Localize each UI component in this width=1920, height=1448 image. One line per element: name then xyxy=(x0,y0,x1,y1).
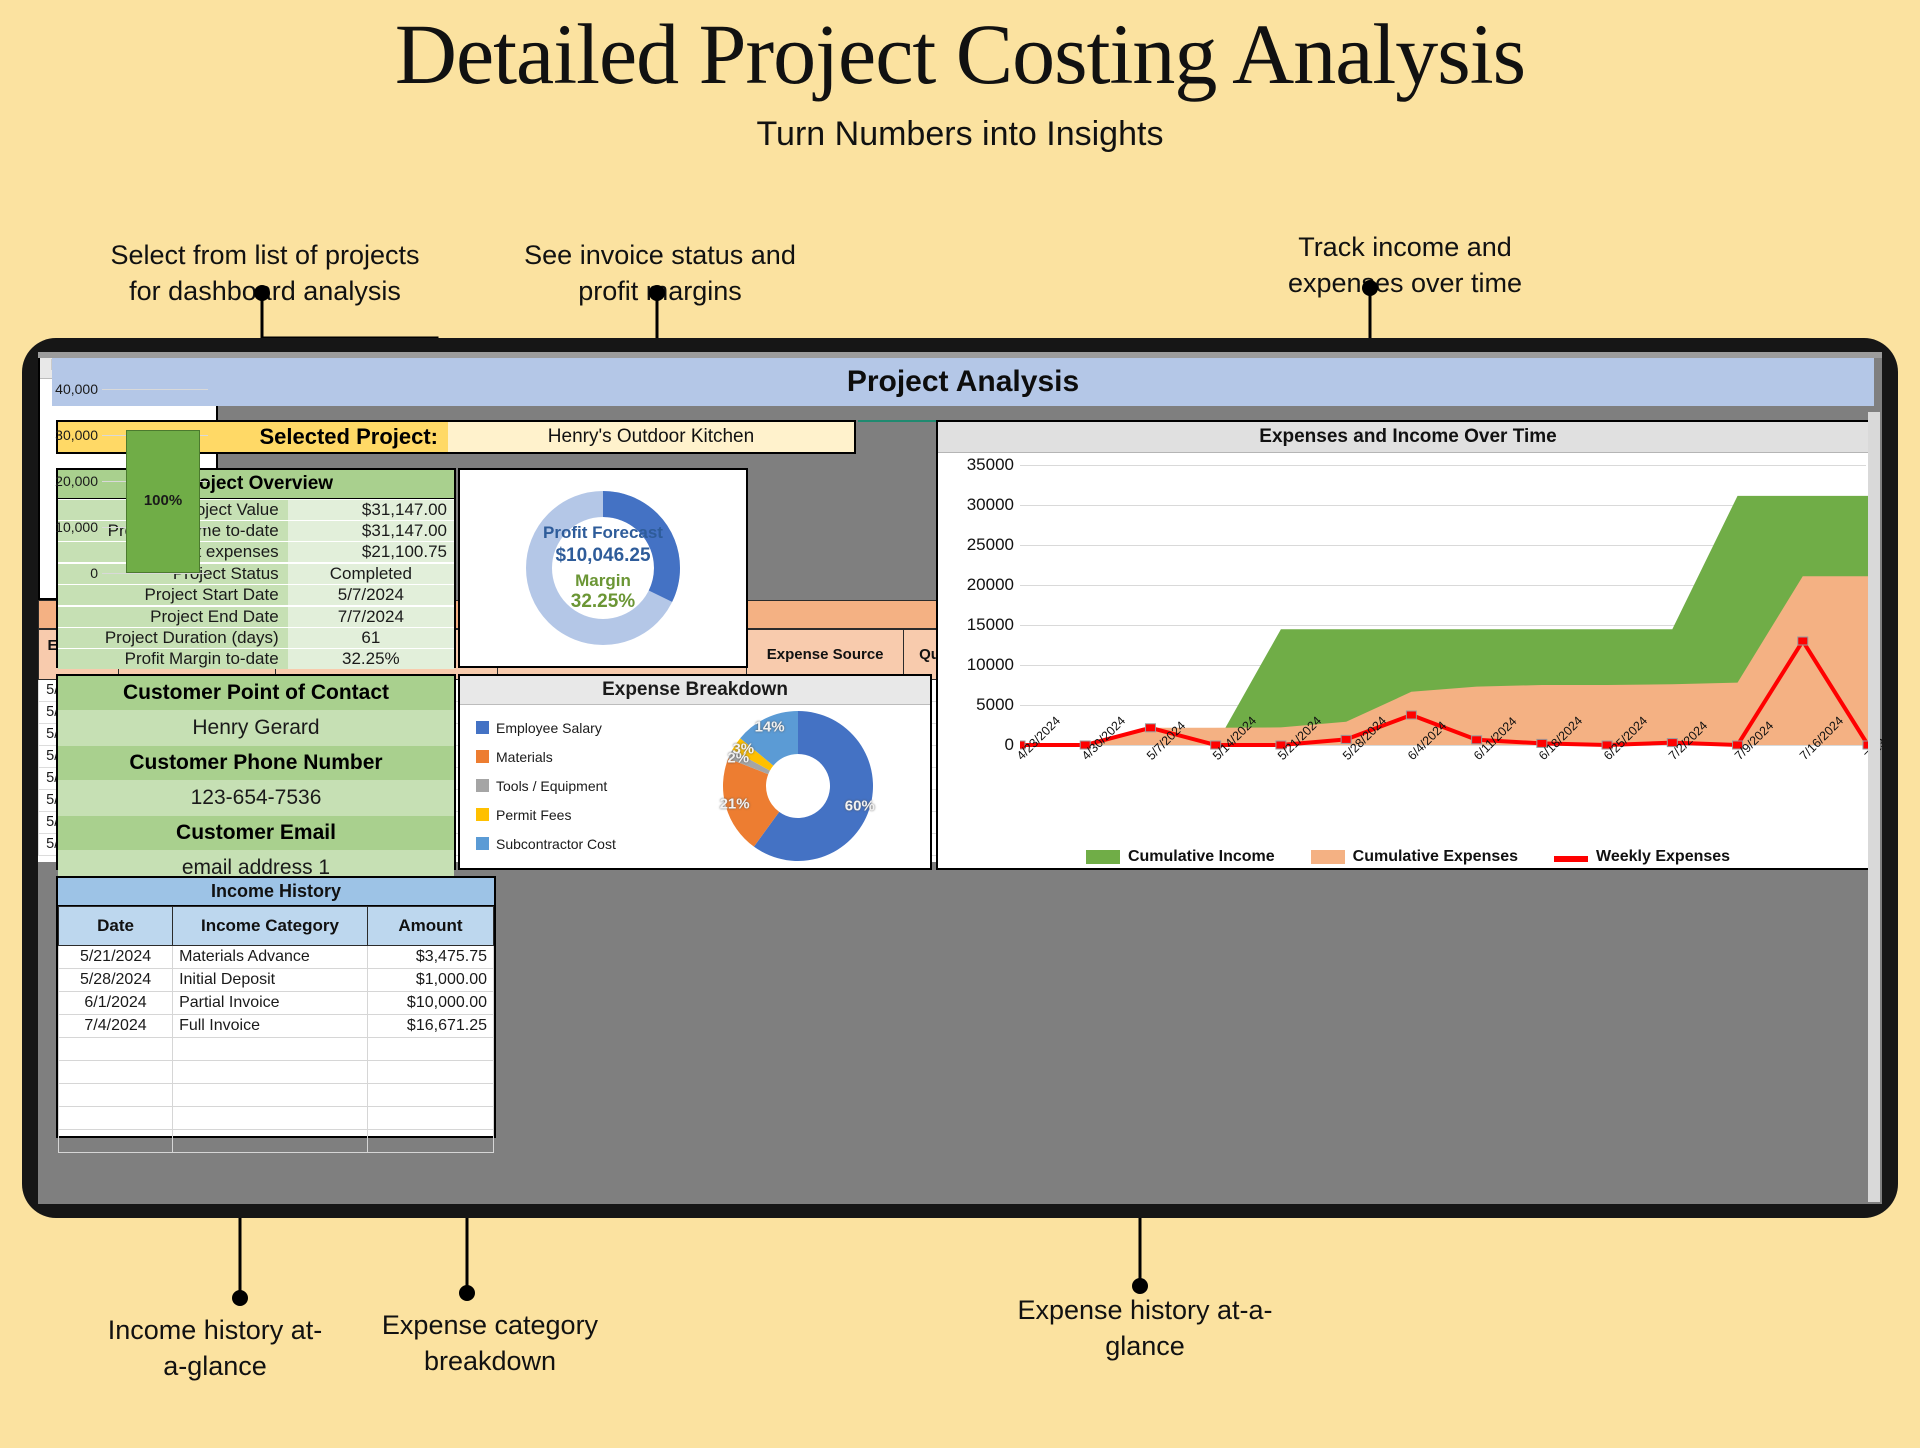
overview-key: Profit Margin to-date xyxy=(58,649,288,669)
income-history-cell: 7/4/2024 xyxy=(59,1015,173,1038)
table-row[interactable] xyxy=(59,1130,494,1153)
expense-donut-svg xyxy=(723,711,873,861)
overview-value: $31,147.00 xyxy=(288,500,454,520)
overview-row: Project Duration (days)61 xyxy=(58,627,454,648)
timechart-legend-item: Cumulative Income xyxy=(1086,848,1275,866)
income-history-cell: Initial Deposit xyxy=(173,969,368,992)
timechart-ytick: 20000 xyxy=(942,575,1014,595)
timechart-ytick: 0 xyxy=(942,735,1014,755)
income-history-cell xyxy=(173,1084,368,1107)
income-history-cell xyxy=(367,1061,493,1084)
invoices-ytick: 10,000 xyxy=(46,519,98,535)
legend-swatch-icon xyxy=(476,808,489,821)
invoices-ytick: 30,000 xyxy=(46,427,98,443)
table-row[interactable]: 5/21/2024Materials Advance$3,475.75 xyxy=(59,946,494,969)
invoices-gridline xyxy=(102,573,208,574)
profit-donut: Profit Forecast $10,046.25 Margin 32.25% xyxy=(519,484,687,652)
overview-value: 5/7/2024 xyxy=(288,585,454,605)
expense-breakdown-chart: Expense Breakdown Employee SalaryMateria… xyxy=(458,674,932,870)
expense-donut: 60%21%2%3%14% xyxy=(723,711,873,861)
expenses-income-chart: Expenses and Income Over Time 3500030000… xyxy=(936,420,1880,870)
expense-legend-label: Materials xyxy=(496,749,553,765)
income-history-cell: 5/28/2024 xyxy=(59,969,173,992)
income-history-cell: $16,671.25 xyxy=(367,1015,493,1038)
expense-breakdown-title: Expense Breakdown xyxy=(460,676,930,705)
expense-breakdown-body: Employee SalaryMaterialsTools / Equipmen… xyxy=(460,705,930,867)
invoices-ytick: 40,000 xyxy=(46,381,98,397)
legend-swatch-icon xyxy=(1086,850,1120,864)
income-history-cell: $10,000.00 xyxy=(367,992,493,1015)
overview-row: Profit Margin to-date32.25% xyxy=(58,649,454,670)
expense-slice-label: 3% xyxy=(732,741,754,758)
vertical-scrollbar[interactable] xyxy=(1868,412,1880,1202)
overview-value: 32.25% xyxy=(288,649,454,669)
expenses-income-title: Expenses and Income Over Time xyxy=(938,422,1878,453)
invoices-ytick: 20,000 xyxy=(46,473,98,489)
expense-breakdown-plot: 60%21%2%3%14% xyxy=(665,705,930,867)
income-history-cell xyxy=(59,1084,173,1107)
timechart-ytick: 5000 xyxy=(942,695,1014,715)
overview-row: Project End Date7/7/2024 xyxy=(58,606,454,627)
expenses-income-legend: Cumulative IncomeCumulative ExpensesWeek… xyxy=(938,848,1878,866)
app-title: Project Analysis xyxy=(847,365,1079,399)
income-history-cell xyxy=(173,1130,368,1153)
table-row[interactable] xyxy=(59,1084,494,1107)
income-history-title: Income History xyxy=(58,878,494,906)
dashboard-screen: Project Analysis Selected Project: Henry… xyxy=(38,352,1882,1204)
timechart-ytick: 15000 xyxy=(942,615,1014,635)
income-history-cell: 6/1/2024 xyxy=(59,992,173,1015)
income-history-column-header: Income Category xyxy=(173,907,368,946)
contact-value: 123-654-7536 xyxy=(58,780,454,816)
expense-legend-item: Permit Fees xyxy=(476,800,665,829)
margin-label: Margin xyxy=(575,571,631,591)
expense-legend-item: Tools / Equipment xyxy=(476,771,665,800)
income-history-cell xyxy=(59,1038,173,1061)
income-history-cell xyxy=(59,1107,173,1130)
profit-forecast-label: Profit Forecast xyxy=(543,523,663,543)
expense-slice-label: 60% xyxy=(845,798,875,815)
income-history-panel: Income History DateIncome CategoryAmount… xyxy=(56,876,496,1138)
overview-key: Project End Date xyxy=(58,607,288,627)
timechart-ytick: 30000 xyxy=(942,495,1014,515)
table-row[interactable] xyxy=(59,1061,494,1084)
expense-legend-label: Permit Fees xyxy=(496,807,571,823)
income-history-cell xyxy=(367,1107,493,1130)
dashboard-frame: Project Analysis Selected Project: Henry… xyxy=(22,338,1898,1218)
overview-value: 61 xyxy=(288,628,454,648)
expense-slice-label: 14% xyxy=(755,718,785,735)
income-history-cell xyxy=(367,1084,493,1107)
table-row[interactable]: 6/1/2024Partial Invoice$10,000.00 xyxy=(59,992,494,1015)
contact-header: Customer Email xyxy=(58,816,454,850)
income-history-table: DateIncome CategoryAmount 5/21/2024Mater… xyxy=(58,906,494,1153)
weekly-expenses-marker xyxy=(1798,637,1808,645)
overview-key: Project Duration (days) xyxy=(58,628,288,648)
contact-header: Customer Phone Number xyxy=(58,746,454,780)
weekly-expenses-marker xyxy=(1406,711,1416,719)
timechart-ytick: 10000 xyxy=(942,655,1014,675)
income-history-header-row: DateIncome CategoryAmount xyxy=(59,907,494,946)
timechart-svg xyxy=(1020,453,1872,757)
overview-value: $31,147.00 xyxy=(288,521,454,541)
overview-value: $21,100.75 xyxy=(288,542,454,562)
income-history-cell xyxy=(173,1107,368,1130)
legend-swatch-icon xyxy=(476,750,489,763)
legend-swatch-icon xyxy=(1311,850,1345,864)
expense-legend-label: Subcontractor Cost xyxy=(496,836,616,852)
table-row[interactable] xyxy=(59,1107,494,1130)
expenses-income-plot: 350003000025000200001500010000500004/23/… xyxy=(938,453,1878,848)
expense-legend-label: Employee Salary xyxy=(496,720,602,736)
expense-slice-label: 21% xyxy=(720,796,750,813)
income-history-column-header: Amount xyxy=(367,907,493,946)
invoices-plot-area: 010,00020,00030,00040,000100% xyxy=(46,383,210,591)
income-history-cell xyxy=(59,1130,173,1153)
timechart-legend-item: Weekly Expenses xyxy=(1554,848,1730,866)
income-history-cell xyxy=(173,1038,368,1061)
income-history-cell xyxy=(59,1061,173,1084)
income-history-cell: Partial Invoice xyxy=(173,992,368,1015)
invoices-ytick: 0 xyxy=(46,565,98,581)
invoices-paid-chart: Invoices Paid To-Date 010,00020,00030,00… xyxy=(38,352,218,600)
income-history-cell xyxy=(367,1130,493,1153)
expense-legend-item: Materials xyxy=(476,742,665,771)
expense-legend-item: Employee Salary xyxy=(476,713,665,742)
table-row[interactable]: 5/28/2024Initial Deposit$1,000.00 xyxy=(59,969,494,992)
profit-forecast-value: $10,046.25 xyxy=(555,545,650,567)
legend-swatch-icon xyxy=(476,721,489,734)
timechart-legend-label: Cumulative Income xyxy=(1128,848,1275,866)
overview-value: 7/7/2024 xyxy=(288,607,454,627)
expense-legend-item: Subcontractor Cost xyxy=(476,829,665,858)
income-history-cell: $3,475.75 xyxy=(367,946,493,969)
timechart-legend-label: Cumulative Expenses xyxy=(1353,848,1518,866)
overview-value: Completed xyxy=(288,564,454,584)
contact-value: Henry Gerard xyxy=(58,710,454,746)
profit-donut-center: Profit Forecast $10,046.25 Margin 32.25% xyxy=(519,484,687,652)
income-history-cell: Materials Advance xyxy=(173,946,368,969)
income-history-cell: $1,000.00 xyxy=(367,969,493,992)
income-history-body: 5/21/2024Materials Advance$3,475.755/28/… xyxy=(59,946,494,1153)
contact-header: Customer Point of Contact xyxy=(58,676,454,710)
table-row[interactable]: 7/4/2024Full Invoice$16,671.25 xyxy=(59,1015,494,1038)
weekly-expenses-marker xyxy=(1145,724,1155,732)
expense-history-column-header: Expense Source xyxy=(747,630,904,680)
customer-contact-panel: Customer Point of Contact Henry Gerard C… xyxy=(56,674,456,870)
income-history-cell xyxy=(367,1038,493,1061)
invoices-gridline xyxy=(102,389,208,390)
margin-value: 32.25% xyxy=(571,591,635,613)
table-row[interactable] xyxy=(59,1038,494,1061)
income-history-cell: 5/21/2024 xyxy=(59,946,173,969)
app-title-band: Project Analysis xyxy=(52,358,1874,406)
profit-forecast-chart: Profit Forecast $10,046.25 Margin 32.25% xyxy=(458,468,748,668)
income-history-cell xyxy=(173,1061,368,1084)
expense-legend-label: Tools / Equipment xyxy=(496,778,607,794)
legend-swatch-icon xyxy=(476,779,489,792)
income-history-cell: Full Invoice xyxy=(173,1015,368,1038)
timechart-ytick: 25000 xyxy=(942,535,1014,555)
timechart-legend-item: Cumulative Expenses xyxy=(1311,848,1518,866)
expense-breakdown-legend: Employee SalaryMaterialsTools / Equipmen… xyxy=(460,705,665,867)
selected-project-value[interactable]: Henry's Outdoor Kitchen xyxy=(448,422,854,452)
invoices-bar-label: 100% xyxy=(126,492,200,509)
income-history-column-header: Date xyxy=(59,907,173,946)
legend-swatch-icon xyxy=(1554,856,1588,862)
legend-swatch-icon xyxy=(476,837,489,850)
timechart-ytick: 35000 xyxy=(942,455,1014,475)
timechart-legend-label: Weekly Expenses xyxy=(1596,848,1730,866)
